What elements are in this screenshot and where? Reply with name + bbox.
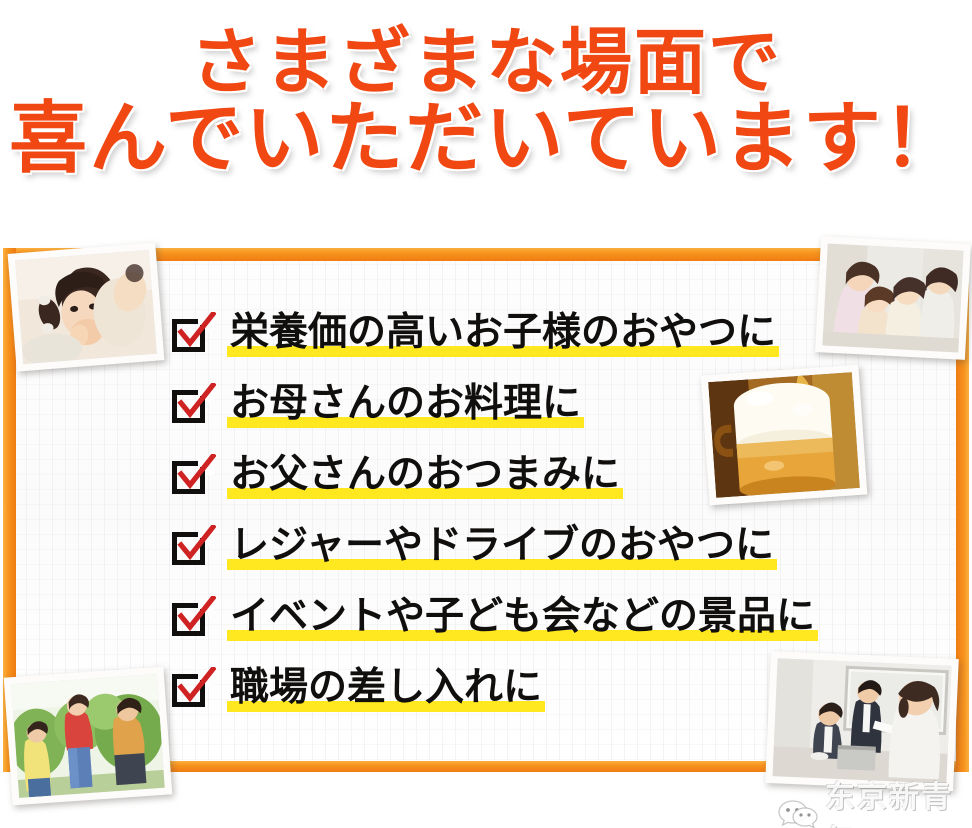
headline-line-1: さまざまな場面で <box>0 24 972 100</box>
photo-office-meeting <box>765 651 959 791</box>
headline-line-2: 喜んでいただいています！ <box>0 98 972 181</box>
photo-beer-mug <box>701 365 868 506</box>
checkbox-checked-icon <box>171 670 211 710</box>
photo-family-gathering <box>815 236 971 360</box>
photo-outdoor-leisure <box>4 667 173 806</box>
photo-child-eating <box>8 242 165 371</box>
checklist-item-label: お父さんのおつまみに <box>227 452 623 501</box>
checklist-item-label: レジャーやドライブのおやつに <box>227 523 777 572</box>
wechat-icon <box>778 798 818 828</box>
checklist-item-leisure: レジャーやドライブのおやつに <box>171 523 871 594</box>
promo-poster: さまざまな場面で 喜んでいただいています！ 栄養価の高いお子様のおやつに <box>0 0 972 828</box>
checklist-item-label: イベントや子ども会などの景品に <box>227 594 818 643</box>
checkbox-checked-icon <box>171 528 211 568</box>
checklist-item-label: 栄養価の高いお子様のおやつに <box>227 310 779 359</box>
checklist-item-workplace: 職場の差し入れに <box>171 665 871 736</box>
checklist-item-label: お母さんのお料理に <box>227 381 584 430</box>
watermark: 东京新青年 <box>778 772 972 828</box>
checklist-item-event-prize: イベントや子ども会などの景品に <box>171 594 871 665</box>
checkbox-checked-icon <box>171 457 211 497</box>
checkbox-checked-icon <box>171 599 211 639</box>
checklist-item-label: 職場の差し入れに <box>227 665 545 714</box>
watermark-label: 东京新青年 <box>825 772 972 828</box>
checkbox-checked-icon <box>171 315 211 355</box>
headline: さまざまな場面で 喜んでいただいています！ <box>0 24 972 181</box>
checkbox-checked-icon <box>171 386 211 426</box>
